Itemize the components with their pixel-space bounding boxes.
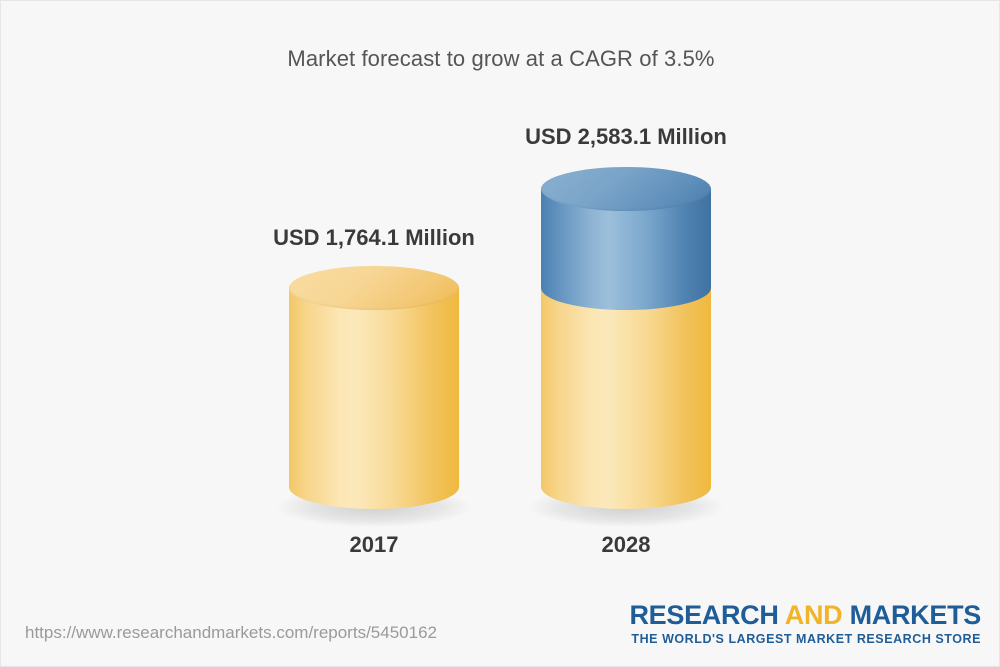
bar-bottom-cap-2028 <box>541 465 711 509</box>
chart-canvas: Market forecast to grow at a CAGR of 3.5… <box>0 0 1000 667</box>
logo-word-markets: MARKETS <box>850 600 981 630</box>
bar-body-gold-2017 <box>289 288 459 487</box>
bar-cylinder-2028[interactable] <box>541 167 711 509</box>
bar-value-label-2017: USD 1,764.1 Million <box>224 225 524 251</box>
bar-bottom-cap-2017 <box>289 465 459 509</box>
research-and-markets-logo[interactable]: RESEARCH AND MARKETS THE WORLD'S LARGEST… <box>629 601 981 646</box>
bar-value-label-2028: USD 2,583.1 Million <box>476 124 776 150</box>
logo-word-and: AND <box>785 600 850 630</box>
bar-category-label-2028: 2028 <box>541 532 711 558</box>
bar-segment-divider-2028 <box>541 266 711 310</box>
logo-word-research: RESEARCH <box>629 600 784 630</box>
bar-top-ellipse-2028 <box>541 167 711 211</box>
bar-cylinder-2017[interactable] <box>289 266 459 509</box>
bar-body-gold-2028 <box>541 288 711 465</box>
logo-wordmark: RESEARCH AND MARKETS <box>629 601 981 629</box>
chart-title: Market forecast to grow at a CAGR of 3.5… <box>1 46 1000 72</box>
report-url[interactable]: https://www.researchandmarkets.com/repor… <box>25 623 437 643</box>
logo-tagline: THE WORLD'S LARGEST MARKET RESEARCH STOR… <box>629 632 981 646</box>
bar-category-label-2017: 2017 <box>289 532 459 558</box>
bar-top-ellipse-2017 <box>289 266 459 310</box>
